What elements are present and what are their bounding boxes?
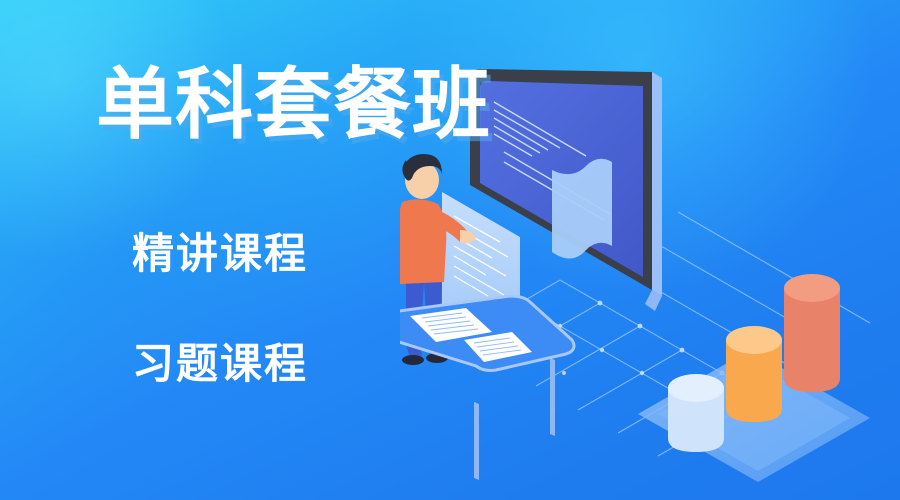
promo-banner: 单科套餐班 精讲课程 习题课程 bbox=[0, 0, 900, 500]
subtitle-jingjiang: 精讲课程 bbox=[132, 228, 308, 280]
bar-coral bbox=[784, 274, 840, 392]
subtitle-xiti: 习题课程 bbox=[132, 338, 308, 390]
bar-light bbox=[668, 374, 724, 452]
bar-orange bbox=[726, 326, 782, 422]
desk bbox=[400, 296, 574, 480]
bar-chart bbox=[638, 274, 870, 482]
isometric-illustration bbox=[400, 40, 900, 500]
